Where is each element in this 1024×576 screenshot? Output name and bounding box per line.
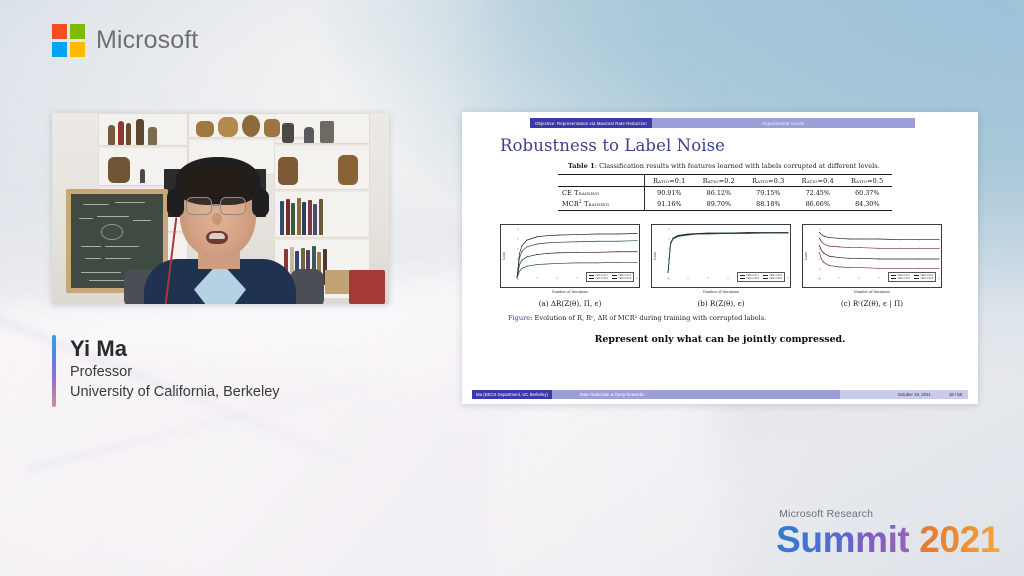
logo-square-yellow — [70, 42, 85, 57]
eyeglasses-right-lens — [220, 197, 246, 215]
legend-entry: ratio=0.4 — [920, 277, 933, 280]
table-cell: 84.30% — [843, 198, 893, 210]
speaker-nose — [212, 213, 222, 225]
eyeglasses-bridge — [212, 204, 220, 206]
subfigure-a-expr: ΔR(Z(θ), Π, ϵ) — [551, 299, 602, 308]
shelf-ornament — [278, 157, 298, 185]
shelf-ornament — [338, 155, 358, 185]
table-cell: 72.45% — [793, 187, 842, 199]
shelf-ornament — [118, 121, 124, 145]
nav-item-experimental-results: Experimental results — [652, 118, 915, 128]
shelf-ornament — [196, 121, 214, 137]
speaker-teeth — [209, 233, 225, 239]
speaker-info-block: Yi Ma Professor University of California… — [52, 335, 280, 407]
table-row: MCR2 Training 91.16% 89.70% 88.18% 86.66… — [558, 198, 892, 210]
plot-a: Loss ratio=0.1 ratio=0.3 ratio=0.2 ratio… — [500, 224, 640, 288]
speaker-video-tile — [52, 113, 389, 304]
figure-row: Loss ratio=0.1 ratio=0.3 ratio=0.2 ratio… — [500, 224, 944, 308]
shelf-ornament — [218, 117, 238, 137]
slide-title: Robustness to Label Noise — [500, 136, 725, 155]
footer-date: October 19, 2021 — [898, 392, 931, 397]
table-caption-label: Table 1 — [568, 162, 595, 170]
summit-branding: Microsoft Research Summit 2021 — [776, 508, 1000, 558]
subfigure-b-label: (b) R(Z(θ), ϵ) — [651, 299, 791, 308]
table-cell: 79.15% — [744, 187, 793, 199]
table-col-ratio-0-4: Ratio=0.4 — [793, 175, 842, 187]
shelf-divider — [274, 143, 370, 146]
logo-square-red — [52, 24, 67, 39]
nav-item-objective: Objective: Representation via Maximal Ra… — [530, 118, 652, 128]
microsoft-wordmark: Microsoft — [96, 26, 198, 55]
microsoft-logo: Microsoft — [52, 24, 198, 57]
footer-talk-title: Rate Reduction & Deep Networks — [552, 390, 840, 399]
footer-author: Ma (EECS Department, UC Berkeley) — [472, 390, 552, 399]
table-row-label-mcr2: MCR2 Training — [558, 198, 644, 210]
shelf-ornament — [108, 157, 130, 183]
plot-a-ylabel: Loss — [502, 252, 506, 260]
headphone-earcup-right — [252, 189, 269, 217]
table-row-label-ce: CE Training — [558, 187, 644, 199]
shelf-ornament — [320, 121, 334, 143]
subfigure-c-tag: (c) — [841, 299, 851, 308]
subfigure-c-label: (c) Rᶜ(Z(θ), ϵ | Π) — [802, 299, 942, 308]
legend-entry: ratio=0.2 — [595, 277, 608, 280]
legend-entry: ratio=0.2 — [746, 277, 759, 280]
slide-punchline: Represent only what can be jointly compr… — [462, 334, 978, 345]
shelf-ornament — [108, 125, 115, 145]
shelf-ornament — [242, 115, 260, 137]
shelf-ornament — [126, 123, 131, 145]
table-cell: 91.16% — [644, 198, 694, 210]
plot-b-xlabel: Number of Iterations — [652, 290, 790, 294]
shelf-ornament — [136, 119, 144, 145]
subfigure-a-label: (a) ΔR(Z(θ), Π, ϵ) — [500, 299, 640, 308]
presentation-slide: Objective: Representation via Maximal Ra… — [462, 112, 978, 404]
table-cell: 88.18% — [744, 198, 793, 210]
plot-b-ylabel: Loss — [653, 252, 657, 260]
table-cell: 89.70% — [694, 198, 743, 210]
legend-entry: ratio=0.4 — [618, 277, 631, 280]
accent-gradient-bar — [52, 335, 56, 407]
plot-c-xlabel: Number of Iterations — [803, 290, 941, 294]
figure-caption: Figure: Evolution of R, Rᶜ, ΔR of MCR² d… — [508, 314, 938, 322]
shelf-ornament — [282, 123, 294, 143]
table-header-row: Ratio=0.1 Ratio=0.2 Ratio=0.3 Ratio=0.4 … — [558, 175, 892, 187]
plot-b-legend: ratio=0.1 ratio=0.3 ratio=0.2 ratio=0.4 — [737, 272, 785, 283]
shelf-ornament — [264, 119, 280, 137]
subfigure-a: Loss ratio=0.1 ratio=0.3 ratio=0.2 ratio… — [500, 224, 640, 308]
table-caption-text: : Classification results with features l… — [595, 162, 880, 170]
plot-c-ylabel: Loss — [804, 252, 808, 260]
table-cell: 60.37% — [843, 187, 893, 199]
subfigure-a-tag: (a) — [539, 299, 549, 308]
subfigure-c: Loss ratio=0.1 ratio=0.3 ratio=0.2 ratio… — [802, 224, 942, 308]
table-col-ratio-0-3: Ratio=0.3 — [744, 175, 793, 187]
book-row — [280, 197, 323, 235]
plot-c-legend: ratio=0.1 ratio=0.3 ratio=0.2 ratio=0.4 — [888, 272, 936, 283]
footer-page-number: 18 / 58 — [949, 392, 962, 397]
table-caption: Table 1: Classification results with fea… — [568, 162, 948, 170]
table-cell: 86.12% — [694, 187, 743, 199]
plot-a-legend: ratio=0.1 ratio=0.3 ratio=0.2 ratio=0.4 — [586, 272, 634, 283]
plot-c: Loss ratio=0.1 ratio=0.3 ratio=0.2 ratio… — [802, 224, 942, 288]
table-col-ratio-0-5: Ratio=0.5 — [843, 175, 893, 187]
floor-red-box — [349, 270, 385, 304]
figure-caption-text: : Evolution of R, Rᶜ, ΔR of MCR² during … — [530, 314, 766, 322]
microsoft-logo-icon — [52, 24, 85, 57]
footer-meta: October 19, 2021 18 / 58 — [840, 390, 968, 399]
legend-entry: ratio=0.4 — [769, 277, 782, 280]
eyeglasses-left-lens — [186, 197, 212, 215]
plot-b: Loss ratio=0.1 ratio=0.3 ratio=0.2 ratio… — [651, 224, 791, 288]
subfigure-c-expr: Rᶜ(Z(θ), ϵ | Π) — [853, 299, 903, 308]
shelf-ornament — [140, 169, 145, 183]
headphone-earcup-left — [167, 189, 184, 217]
figure-caption-label: Figure — [508, 314, 530, 322]
speaker-role: Professor — [70, 362, 280, 382]
plot-a-xlabel: Number of Iterations — [501, 290, 639, 294]
shelf-divider — [274, 189, 370, 192]
shelf-ornament — [148, 127, 157, 145]
shelf-ornament — [304, 127, 314, 143]
speaker-name: Yi Ma — [70, 336, 280, 362]
logo-square-green — [70, 24, 85, 39]
slide-footer: Ma (EECS Department, UC Berkeley) Rate R… — [472, 390, 968, 399]
table-cell: 90.91% — [644, 187, 694, 199]
shelf-divider — [274, 237, 370, 240]
table-col-ratio-0-1: Ratio=0.1 — [644, 175, 694, 187]
legend-entry: ratio=0.2 — [897, 277, 910, 280]
summit-word: Summit — [776, 519, 909, 560]
slide-section-nav: Objective: Representation via Maximal Ra… — [530, 118, 915, 128]
speaker-organization: University of California, Berkeley — [70, 382, 280, 402]
shelf-divider — [98, 145, 188, 148]
subfigure-b: Loss ratio=0.1 ratio=0.3 ratio=0.2 ratio… — [651, 224, 791, 308]
subfigure-b-expr: R(Z(θ), ϵ) — [710, 299, 745, 308]
table-col-ratio-0-2: Ratio=0.2 — [694, 175, 743, 187]
table-row: CE Training 90.91% 86.12% 79.15% 72.45% … — [558, 187, 892, 199]
summit-year: 2021 — [919, 519, 1000, 560]
logo-square-blue — [52, 42, 67, 57]
table-cell: 86.66% — [793, 198, 842, 210]
subfigure-b-tag: (b) — [697, 299, 707, 308]
summit-title: Summit 2021 — [776, 521, 1000, 558]
results-table: Ratio=0.1 Ratio=0.2 Ratio=0.3 Ratio=0.4 … — [558, 174, 892, 211]
